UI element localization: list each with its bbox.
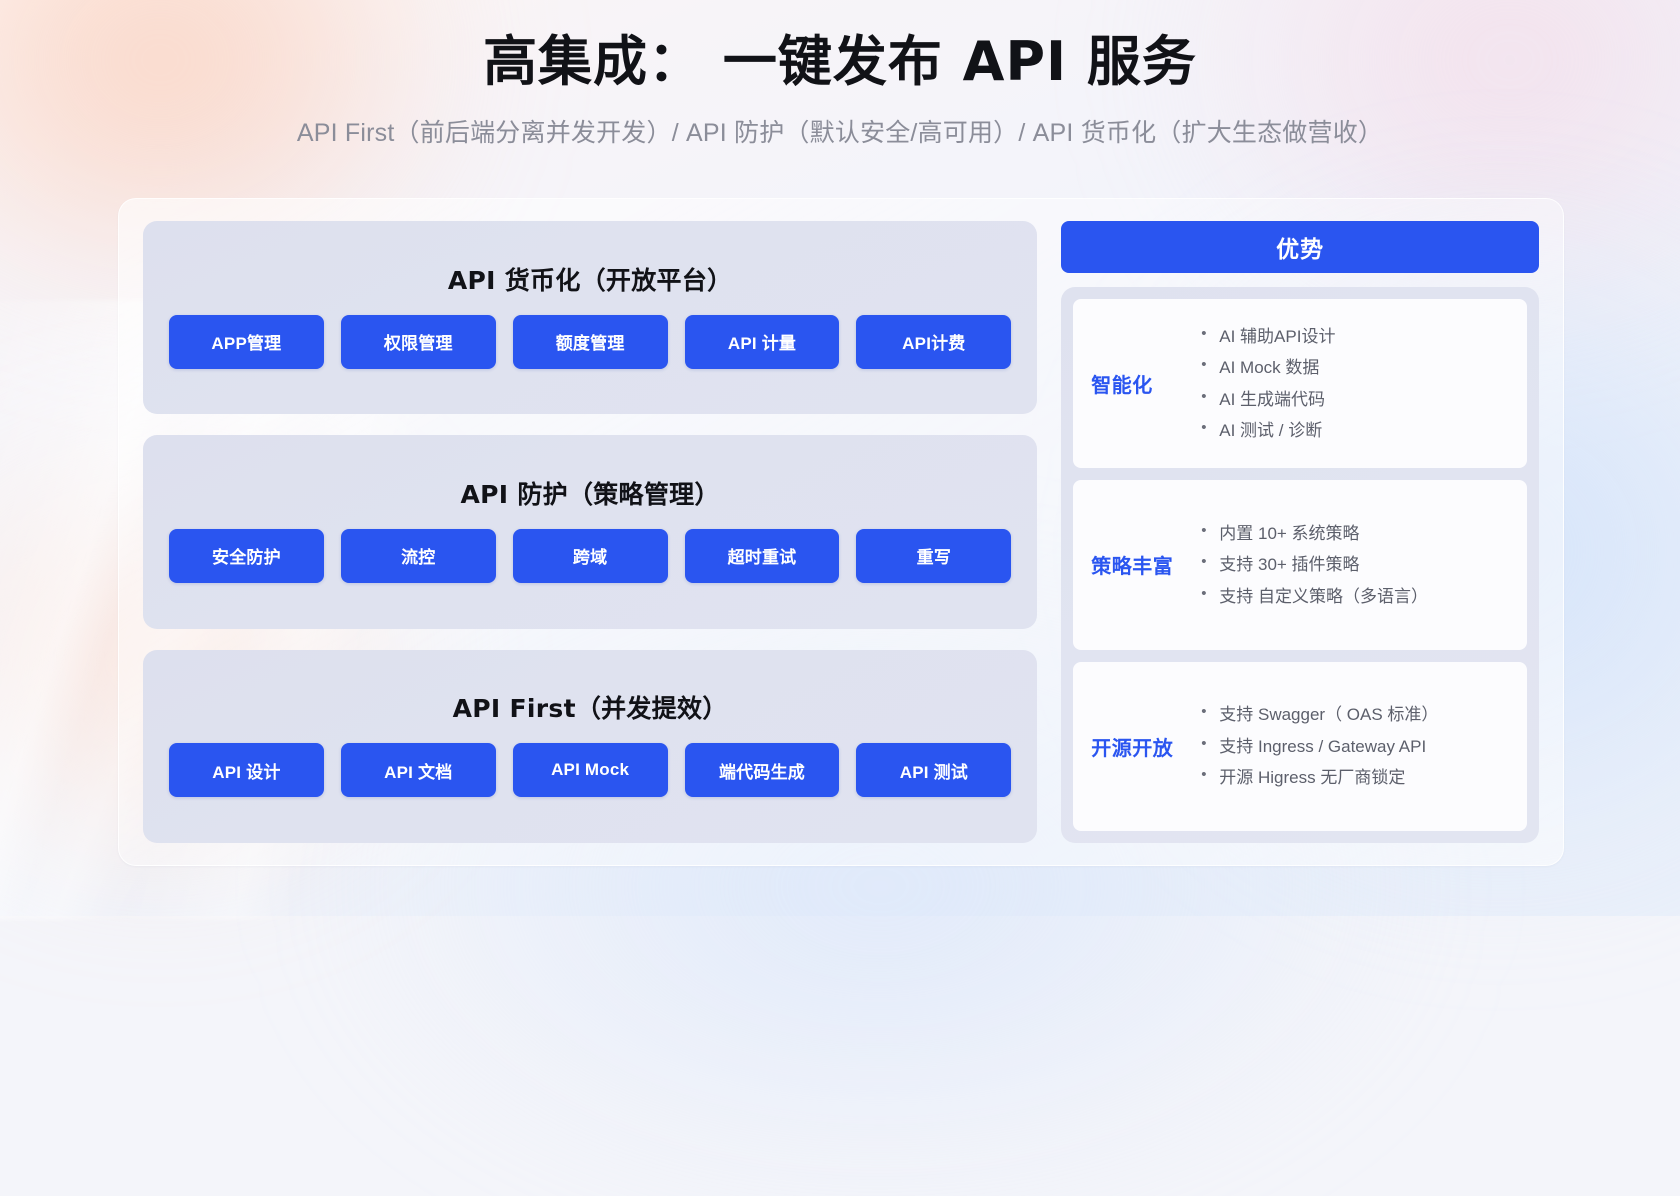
chip-quota-management[interactable]: 额度管理	[513, 315, 668, 369]
chip-app-management[interactable]: APP管理	[169, 315, 324, 369]
advantage-list: 内置 10+ 系统策略 支持 30+ 插件策略 支持 自定义策略（多语言）	[1199, 518, 1513, 612]
advantage-label: 策略丰富	[1091, 550, 1199, 579]
chip-timeout-retry[interactable]: 超时重试	[685, 529, 840, 583]
chip-permission-management[interactable]: 权限管理	[341, 315, 496, 369]
chip-rate-limiting[interactable]: 流控	[341, 529, 496, 583]
section-title: API 货币化（开放平台）	[448, 261, 733, 297]
section-api-monetization: API 货币化（开放平台） APP管理 权限管理 额度管理 API 计量 API…	[143, 221, 1037, 414]
capability-sections: API 货币化（开放平台） APP管理 权限管理 额度管理 API 计量 API…	[143, 221, 1037, 843]
section-api-first: API First（并发提效） API 设计 API 文档 API Mock 端…	[143, 650, 1037, 843]
chip-client-code-generation[interactable]: 端代码生成	[685, 743, 840, 797]
section-title: API First（并发提效）	[453, 689, 728, 725]
page-header: 高集成： 一键发布 API 服务 API First（前后端分离并发开发）/ A…	[0, 0, 1680, 149]
advantage-list: 支持 Swagger（ OAS 标准） 支持 Ingress / Gateway…	[1199, 699, 1513, 793]
list-item: 支持 Ingress / Gateway API	[1199, 731, 1513, 762]
list-item: AI Mock 数据	[1199, 352, 1513, 383]
list-item: AI 测试 / 诊断	[1199, 415, 1513, 446]
advantage-card-rich-policies: 策略丰富 内置 10+ 系统策略 支持 30+ 插件策略 支持 自定义策略（多语…	[1073, 480, 1527, 649]
chip-row: API 设计 API 文档 API Mock 端代码生成 API 测试	[169, 743, 1011, 797]
chip-row: 安全防护 流控 跨域 超时重试 重写	[169, 529, 1011, 583]
chip-rewrite[interactable]: 重写	[856, 529, 1011, 583]
list-item: AI 辅助API设计	[1199, 321, 1513, 352]
chip-api-mock[interactable]: API Mock	[513, 743, 668, 797]
list-item: 支持 自定义策略（多语言）	[1199, 581, 1513, 612]
advantages-header: 优势	[1061, 221, 1539, 273]
chip-row: APP管理 权限管理 额度管理 API 计量 API计费	[169, 315, 1011, 369]
advantage-card-intelligence: 智能化 AI 辅助API设计 AI Mock 数据 AI 生成端代码 AI 测试…	[1073, 299, 1527, 468]
list-item: 开源 Higress 无厂商锁定	[1199, 762, 1513, 793]
advantages-body: 智能化 AI 辅助API设计 AI Mock 数据 AI 生成端代码 AI 测试…	[1061, 287, 1539, 843]
advantage-card-open-source: 开源开放 支持 Swagger（ OAS 标准） 支持 Ingress / Ga…	[1073, 662, 1527, 831]
advantage-label: 智能化	[1091, 369, 1199, 398]
section-title: API 防护（策略管理）	[460, 475, 719, 511]
page-subtitle: API First（前后端分离并发开发）/ API 防护（默认安全/高可用）/ …	[0, 113, 1680, 149]
page-title: 高集成： 一键发布 API 服务	[0, 30, 1680, 95]
chip-api-testing[interactable]: API 测试	[856, 743, 1011, 797]
list-item: 内置 10+ 系统策略	[1199, 518, 1513, 549]
chip-cors[interactable]: 跨域	[513, 529, 668, 583]
advantage-label: 开源开放	[1091, 732, 1199, 761]
chip-api-metering[interactable]: API 计量	[685, 315, 840, 369]
advantage-list: AI 辅助API设计 AI Mock 数据 AI 生成端代码 AI 测试 / 诊…	[1199, 321, 1513, 447]
list-item: AI 生成端代码	[1199, 384, 1513, 415]
chip-security-protection[interactable]: 安全防护	[169, 529, 324, 583]
list-item: 支持 Swagger（ OAS 标准）	[1199, 699, 1513, 730]
list-item: 支持 30+ 插件策略	[1199, 549, 1513, 580]
content-panel: API 货币化（开放平台） APP管理 权限管理 额度管理 API 计量 API…	[118, 198, 1564, 866]
chip-api-billing[interactable]: API计费	[856, 315, 1011, 369]
section-api-protection: API 防护（策略管理） 安全防护 流控 跨域 超时重试 重写	[143, 435, 1037, 628]
advantages-column: 优势 智能化 AI 辅助API设计 AI Mock 数据 AI 生成端代码 AI…	[1061, 221, 1539, 843]
chip-api-design[interactable]: API 设计	[169, 743, 324, 797]
chip-api-docs[interactable]: API 文档	[341, 743, 496, 797]
